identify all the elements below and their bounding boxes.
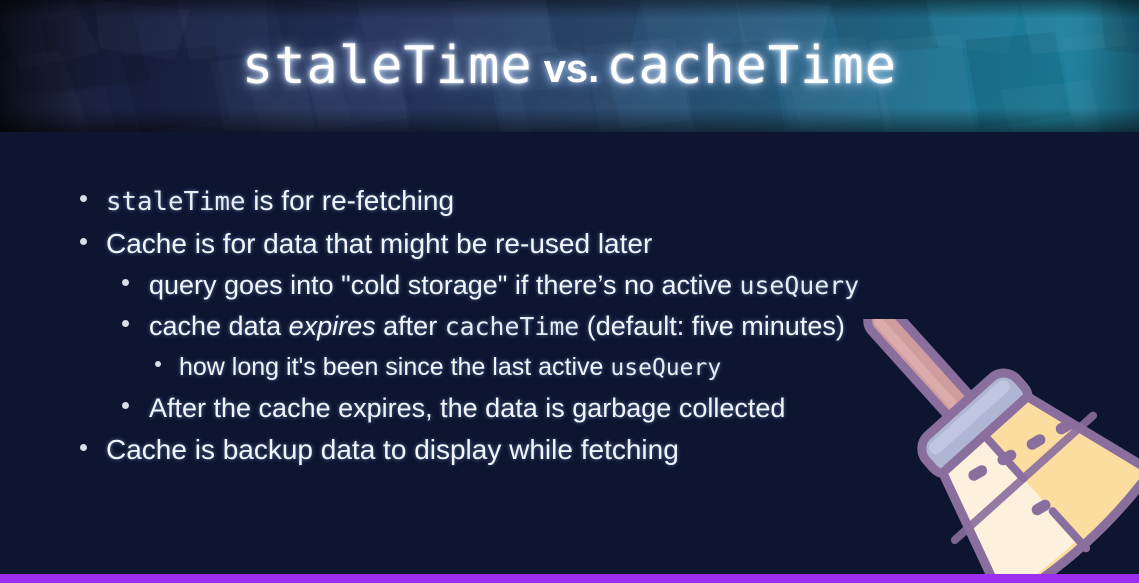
bullet-text: staleTime is for re-fetching (106, 180, 454, 223)
page-title: staleTime vs. cacheTime (0, 0, 1139, 132)
text-segment-code: useQuery (740, 271, 860, 300)
title-part-staletime: staleTime (242, 36, 533, 96)
bullet-text: Cache is for data that might be re-used … (106, 223, 652, 265)
bullet-item-level3: how long it's been since the last active… (155, 347, 1060, 388)
bullet-dot-icon (122, 402, 129, 409)
text-segment-italic: expires (289, 311, 376, 341)
text-segment-normal: Cache is for data that might be re-used … (106, 228, 652, 259)
title-part-cachetime: cacheTime (606, 36, 897, 96)
bullet-dot-icon (155, 361, 161, 367)
text-segment-normal: After the cache expires, the data is gar… (149, 393, 785, 423)
bullet-item-level1: Cache is backup data to display while fe… (80, 429, 1060, 471)
text-segment-normal: is for re-fetching (246, 185, 455, 216)
text-segment-normal: query goes into "cold storage" if there’… (149, 270, 740, 300)
bullet-item-level1: staleTime is for re-fetching (80, 180, 1060, 223)
bullet-item-level1: Cache is for data that might be re-used … (80, 223, 1060, 265)
text-segment-normal: Cache is backup data to display while fe… (106, 434, 679, 465)
text-segment-normal: (default: five minutes) (579, 311, 845, 341)
text-segment-code: useQuery (610, 355, 721, 381)
bullet-dot-icon (122, 279, 129, 286)
slide-root: staleTime vs. cacheTime staleTime is for… (0, 0, 1139, 583)
bullet-dot-icon (80, 195, 87, 202)
bullet-text: how long it's been since the last active… (179, 347, 721, 388)
text-segment-code: cacheTime (445, 312, 580, 341)
text-segment-code: staleTime (106, 187, 246, 217)
bullet-text: cache data expires after cacheTime (defa… (149, 306, 845, 347)
bottom-accent-bar (0, 574, 1139, 583)
bullet-text: Cache is backup data to display while fe… (106, 429, 679, 471)
bullet-dot-icon (122, 320, 129, 327)
bullet-item-level2: cache data expires after cacheTime (defa… (122, 306, 1060, 347)
bullet-list: staleTime is for re-fetchingCache is for… (80, 180, 1060, 471)
bullet-item-level2: After the cache expires, the data is gar… (122, 388, 1060, 429)
bullet-dot-icon (80, 238, 87, 245)
title-separator-vs: vs. (533, 47, 607, 92)
slide-body: staleTime is for re-fetchingCache is for… (0, 132, 1139, 574)
bullet-text: query goes into "cold storage" if there’… (149, 265, 859, 306)
text-segment-normal: cache data (149, 311, 289, 341)
text-segment-normal: after (376, 311, 445, 341)
bullet-item-level2: query goes into "cold storage" if there’… (122, 265, 1060, 306)
bullet-dot-icon (80, 444, 87, 451)
bullet-text: After the cache expires, the data is gar… (149, 388, 785, 429)
text-segment-normal: how long it's been since the last active (179, 353, 610, 381)
slide-header: staleTime vs. cacheTime (0, 0, 1139, 132)
